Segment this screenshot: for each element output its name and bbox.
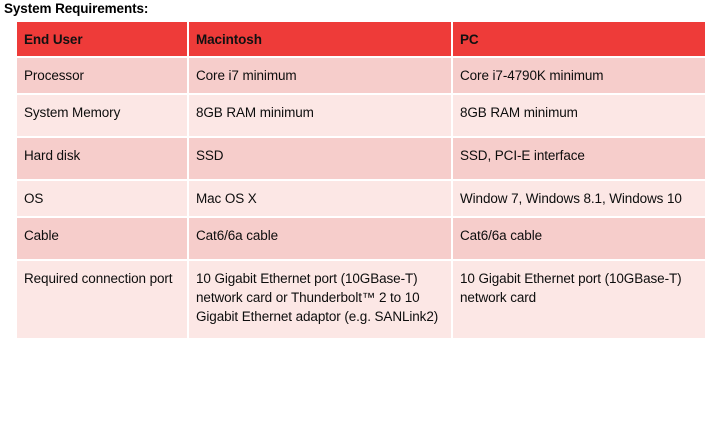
table-row: System Memory 8GB RAM minimum 8GB RAM mi… bbox=[17, 95, 705, 136]
cell-pc: Window 7, Windows 8.1, Windows 10 bbox=[453, 181, 705, 216]
cell-macintosh: 10 Gigabit Ethernet port (10GBase-T) net… bbox=[189, 261, 451, 338]
document-page: System Requirements: End User Macintosh … bbox=[0, 0, 720, 422]
table-row: Cable Cat6/6a cable Cat6/6a cable bbox=[17, 218, 705, 259]
cell-macintosh: Mac OS X bbox=[189, 181, 451, 216]
cell-end-user: Required connection port bbox=[17, 261, 187, 338]
cell-pc: Core i7-4790K minimum bbox=[453, 58, 705, 93]
cell-pc: 10 Gigabit Ethernet port (10GBase-T) net… bbox=[453, 261, 705, 338]
cell-end-user: Cable bbox=[17, 218, 187, 259]
table-header: End User Macintosh PC bbox=[17, 22, 705, 56]
table-row: Required connection port 10 Gigabit Ethe… bbox=[17, 261, 705, 338]
column-header-end-user: End User bbox=[17, 22, 187, 56]
cell-macintosh: 8GB RAM minimum bbox=[189, 95, 451, 136]
table-header-row: End User Macintosh PC bbox=[17, 22, 705, 56]
page-title: System Requirements: bbox=[4, 1, 148, 17]
column-header-pc: PC bbox=[453, 22, 705, 56]
cell-pc: SSD, PCI-E interface bbox=[453, 138, 705, 179]
cell-end-user: Processor bbox=[17, 58, 187, 93]
cell-end-user: System Memory bbox=[17, 95, 187, 136]
table-row: Processor Core i7 minimum Core i7-4790K … bbox=[17, 58, 705, 93]
table-row: Hard disk SSD SSD, PCI-E interface bbox=[17, 138, 705, 179]
table-body: Processor Core i7 minimum Core i7-4790K … bbox=[17, 58, 705, 338]
cell-end-user: OS bbox=[17, 181, 187, 216]
cell-pc: Cat6/6a cable bbox=[453, 218, 705, 259]
table-row: OS Mac OS X Window 7, Windows 8.1, Windo… bbox=[17, 181, 705, 216]
system-requirements-table: End User Macintosh PC Processor Core i7 … bbox=[15, 20, 707, 340]
cell-macintosh: Core i7 minimum bbox=[189, 58, 451, 93]
cell-pc: 8GB RAM minimum bbox=[453, 95, 705, 136]
cell-macintosh: SSD bbox=[189, 138, 451, 179]
column-header-macintosh: Macintosh bbox=[189, 22, 451, 56]
cell-macintosh: Cat6/6a cable bbox=[189, 218, 451, 259]
cell-end-user: Hard disk bbox=[17, 138, 187, 179]
